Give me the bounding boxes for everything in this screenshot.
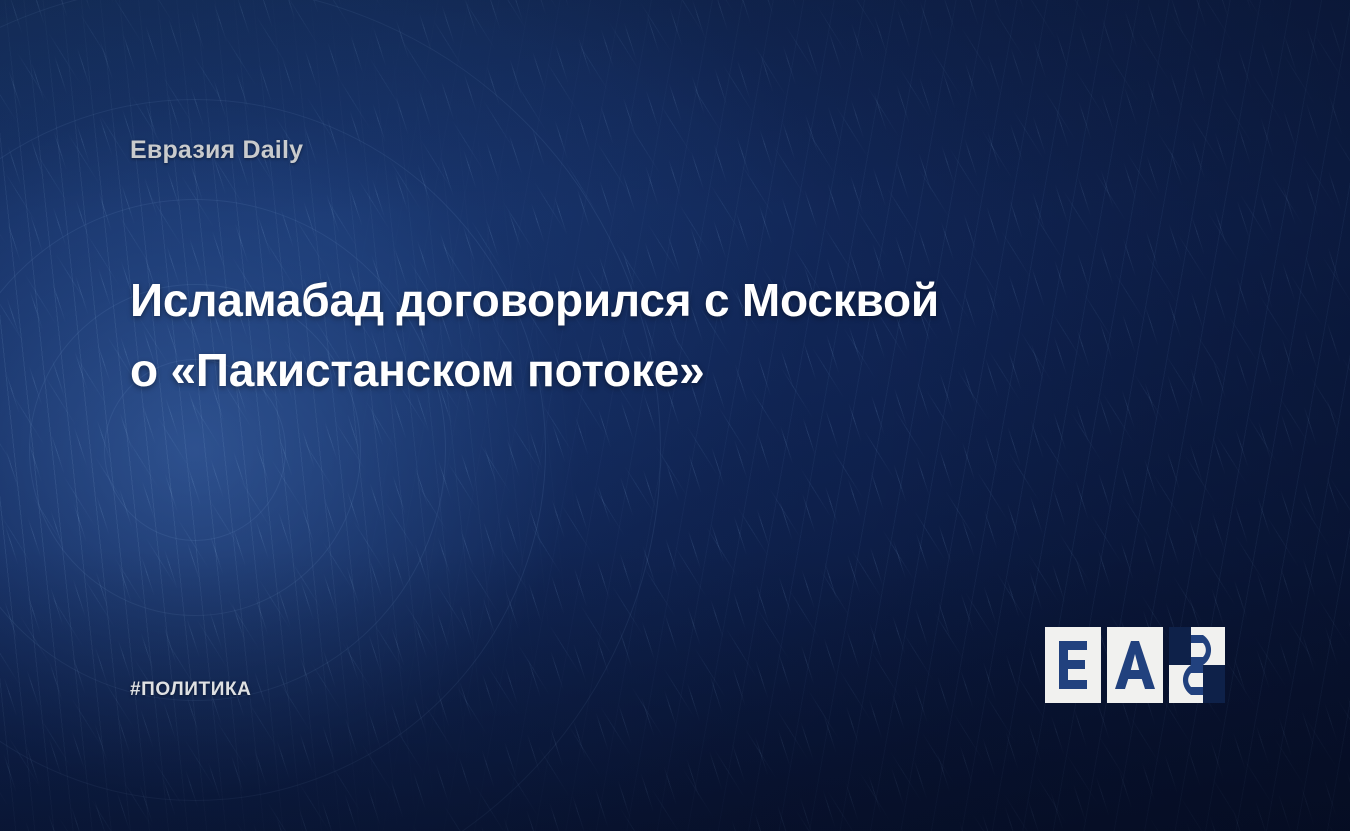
letter-a-icon	[1107, 627, 1163, 703]
letter-e-icon	[1045, 627, 1101, 703]
page-title: Исламабад договорился с Москвой о «Пакис…	[130, 266, 1130, 406]
headline-line-2: о «Пакистанском потоке»	[130, 336, 1130, 406]
logo-tile-a	[1107, 627, 1163, 703]
logo-tile-d	[1169, 627, 1225, 703]
headline-line-1: Исламабад договорился с Москвой	[130, 266, 1130, 336]
letter-d-icon	[1169, 627, 1225, 703]
eadaily-logo[interactable]	[1045, 627, 1225, 703]
category-tag[interactable]: #ПОЛИТИКА	[130, 679, 252, 701]
logo-tile-e	[1045, 627, 1101, 703]
site-name: Евразия Daily	[130, 136, 303, 165]
card-content: Евразия Daily Исламабад договорился с Мо…	[0, 0, 1350, 831]
share-card: Евразия Daily Исламабад договорился с Мо…	[0, 0, 1350, 831]
